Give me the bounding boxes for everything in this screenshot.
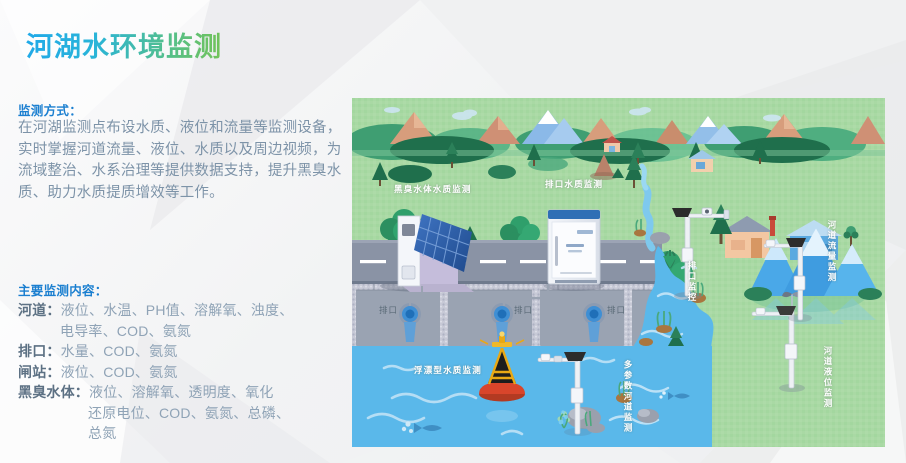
list-item-key: 黑臭水体： — [18, 382, 89, 403]
list-item-continuation-text: 还原电位、COD、氨氮、总磷、 — [88, 403, 290, 424]
list-item-value: 液位、COD、氨氮 — [61, 362, 354, 383]
list-item-key: 河道： — [18, 300, 61, 321]
page-title: 河湖水环境监测 — [26, 25, 222, 64]
list-item: 河道： 液位、水温、PH值、溶解氧、浊度、 — [18, 300, 354, 321]
camera-icon — [756, 308, 765, 315]
list-item-value: 液位、溶解氧、透明度、氧化 — [89, 382, 354, 403]
camera-icon — [766, 240, 775, 247]
list-item-key: 排口： — [18, 341, 61, 362]
list-item-value: 水量、COD、氨氮 — [61, 341, 354, 362]
list-item-continuation: 总氮 — [18, 423, 354, 444]
monitoring-illustration: 黑臭水体水质监测 排口水质监测 浮漂型水质监测 排口监控 多参数河道监测 河道液… — [352, 98, 885, 447]
list-item: 闸站： 液位、COD、氨氮 — [18, 362, 354, 383]
list-item: 黑臭水体： 液位、溶解氧、透明度、氧化 — [18, 382, 354, 403]
list-item-value: 液位、水温、PH值、溶解氧、浊度、 — [61, 300, 354, 321]
text-column: 河湖水环境监测 监测方式： 在河湖监测点布设水质、液位和流量等监测设备，实时掌握… — [0, 0, 352, 463]
illustration-scene — [352, 98, 885, 447]
grass-tufts — [656, 311, 672, 333]
method-paragraph: 在河湖监测点布设水质、液位和流量等监测设备，实时掌握河道流量、液位、水质以及周边… — [18, 118, 348, 204]
list-item-continuation: 还原电位、COD、氨氮、总磷、 — [18, 403, 354, 424]
content-list: 河道： 液位、水温、PH值、溶解氧、浊度、 电导率、COD、氨氮 排口： 水量、… — [18, 300, 354, 444]
list-item-continuation: 电导率、COD、氨氮 — [18, 321, 354, 342]
retaining-wall — [352, 284, 662, 346]
method-heading: 监测方式： — [18, 100, 82, 119]
list-item-continuation-text: 总氮 — [88, 423, 116, 444]
content-heading: 主要监测内容： — [18, 280, 108, 299]
list-item-continuation-text: 电导率、COD、氨氮 — [60, 321, 191, 342]
list-item: 排口： 水量、COD、氨氮 — [18, 341, 354, 362]
list-item-key: 闸站： — [18, 362, 61, 383]
camera-icon — [541, 354, 550, 361]
